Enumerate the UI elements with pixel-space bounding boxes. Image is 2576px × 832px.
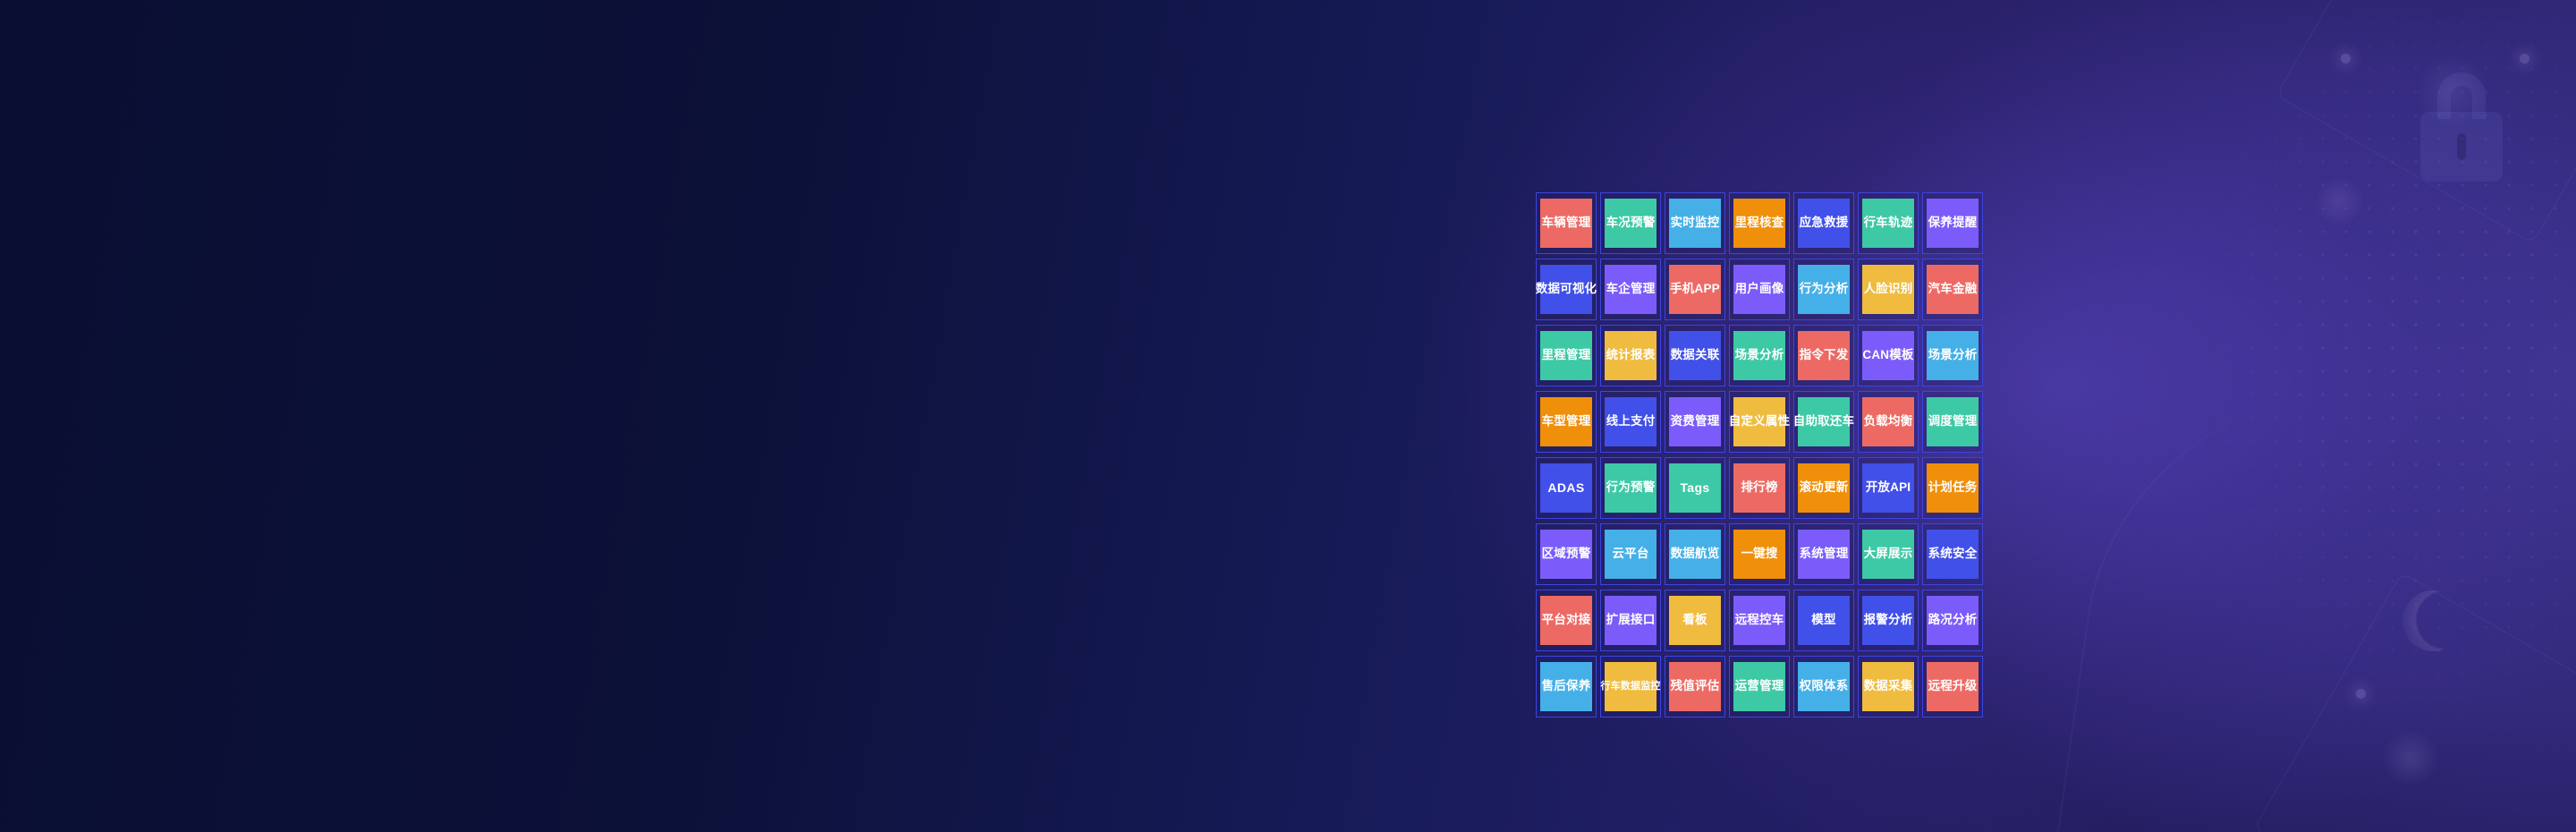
tag-cell[interactable]: 车况预警 <box>1600 192 1661 254</box>
tag-label[interactable]: 报警分析 <box>1862 596 1914 645</box>
tag-cell[interactable]: 平台对接 <box>1536 590 1597 651</box>
tag-label[interactable]: Tags <box>1669 463 1721 513</box>
tag-label[interactable]: 看板 <box>1669 596 1721 645</box>
tag-label[interactable]: 保养提醒 <box>1927 199 1979 248</box>
tag-cell[interactable]: 数据关联 <box>1665 325 1725 386</box>
tag-cell[interactable]: ADAS <box>1536 457 1597 519</box>
tag-cell[interactable]: Tags <box>1665 457 1725 519</box>
tag-cell[interactable]: 行为预警 <box>1600 457 1661 519</box>
tag-cell[interactable]: 应急救援 <box>1793 192 1854 254</box>
tag-label[interactable]: 里程管理 <box>1540 331 1592 380</box>
tag-label[interactable]: 自助取还车 <box>1798 397 1850 446</box>
tag-cell[interactable]: 远程控车 <box>1729 590 1790 651</box>
tag-label[interactable]: 云平台 <box>1605 530 1657 579</box>
tag-label[interactable]: 远程控车 <box>1733 596 1785 645</box>
tag-label[interactable]: 人脸识别 <box>1862 265 1914 314</box>
tag-label[interactable]: 车况预警 <box>1605 199 1657 248</box>
tag-label[interactable]: ADAS <box>1540 463 1592 513</box>
tag-label[interactable]: 行为分析 <box>1798 265 1850 314</box>
capability-tag-grid: 车辆管理车况预警实时监控里程核查应急救援行车轨迹保养提醒数据可视化车企管理手机A… <box>1536 192 1983 717</box>
tag-label[interactable]: 自定义属性 <box>1733 397 1785 446</box>
tag-label[interactable]: 手机APP <box>1669 265 1721 314</box>
tag-cell[interactable]: 模型 <box>1793 590 1854 651</box>
glow-orb-icon <box>2313 175 2365 227</box>
tag-label[interactable]: 车辆管理 <box>1540 199 1592 248</box>
tag-cell[interactable]: 行为分析 <box>1793 259 1854 320</box>
tag-label[interactable]: 数据关联 <box>1669 331 1721 380</box>
tag-cell[interactable]: 大屏展示 <box>1858 523 1919 585</box>
tag-label[interactable]: 残值评估 <box>1669 662 1721 711</box>
tag-cell[interactable]: 车企管理 <box>1600 259 1661 320</box>
tag-label[interactable]: 线上支付 <box>1605 397 1657 446</box>
tag-cell[interactable]: 看板 <box>1665 590 1725 651</box>
tag-cell[interactable]: 权限体系 <box>1793 656 1854 717</box>
tag-label[interactable]: 指令下发 <box>1798 331 1850 380</box>
tag-label[interactable]: 数据采集 <box>1862 662 1914 711</box>
arc-line-icon <box>2048 344 2576 832</box>
tag-cell[interactable]: 数据采集 <box>1858 656 1919 717</box>
tag-cell[interactable]: 一键搜 <box>1729 523 1790 585</box>
tag-cell[interactable]: 计划任务 <box>1922 457 1983 519</box>
tag-label[interactable]: 行车数据监控 <box>1605 662 1657 711</box>
tag-cell[interactable]: 实时监控 <box>1665 192 1725 254</box>
tag-cell[interactable]: 线上支付 <box>1600 391 1661 453</box>
tag-label[interactable]: 模型 <box>1798 596 1850 645</box>
tag-label[interactable]: CAN模板 <box>1862 331 1914 380</box>
tag-label[interactable]: 实时监控 <box>1669 199 1721 248</box>
tag-label[interactable]: 计划任务 <box>1927 463 1979 513</box>
tag-cell[interactable]: 路况分析 <box>1922 590 1983 651</box>
tag-cell[interactable]: 场景分析 <box>1729 325 1790 386</box>
tag-cell[interactable]: 系统管理 <box>1793 523 1854 585</box>
tag-cell[interactable]: 汽车金融 <box>1922 259 1983 320</box>
tag-label[interactable]: 系统管理 <box>1798 530 1850 579</box>
tag-cell[interactable]: 资费管理 <box>1665 391 1725 453</box>
tag-label[interactable]: 平台对接 <box>1540 596 1592 645</box>
tag-cell[interactable]: 远程升级 <box>1922 656 1983 717</box>
tag-cell[interactable]: 指令下发 <box>1793 325 1854 386</box>
tag-cell[interactable]: 里程管理 <box>1536 325 1597 386</box>
tag-label[interactable]: 数据航览 <box>1669 530 1721 579</box>
tag-label[interactable]: 系统安全 <box>1927 530 1979 579</box>
tag-label[interactable]: 售后保养 <box>1540 662 1592 711</box>
tag-cell[interactable]: 数据可视化 <box>1536 259 1597 320</box>
tag-cell[interactable]: 自定义属性 <box>1729 391 1790 453</box>
tag-cell[interactable]: 车辆管理 <box>1536 192 1597 254</box>
tag-label[interactable]: 负载均衡 <box>1862 397 1914 446</box>
tag-cell[interactable]: 云平台 <box>1600 523 1661 585</box>
tag-cell[interactable]: 行车轨迹 <box>1858 192 1919 254</box>
tag-cell[interactable]: 滚动更新 <box>1793 457 1854 519</box>
tag-label[interactable]: 里程核查 <box>1733 199 1785 248</box>
tag-label[interactable]: 滚动更新 <box>1798 463 1850 513</box>
tag-label[interactable]: 开放API <box>1862 463 1914 513</box>
tag-label[interactable]: 大屏展示 <box>1862 530 1914 579</box>
tag-cell[interactable]: 统计报表 <box>1600 325 1661 386</box>
tag-label[interactable]: 资费管理 <box>1669 397 1721 446</box>
tag-cell[interactable]: 系统安全 <box>1922 523 1983 585</box>
tag-label[interactable]: 统计报表 <box>1605 331 1657 380</box>
tag-label[interactable]: 场景分析 <box>1733 331 1785 380</box>
tag-cell[interactable]: 保养提醒 <box>1922 192 1983 254</box>
tag-label[interactable]: 运营管理 <box>1733 662 1785 711</box>
tag-cell[interactable]: 场景分析 <box>1922 325 1983 386</box>
glow-orb-icon <box>2415 54 2490 129</box>
tag-cell[interactable]: 自助取还车 <box>1793 391 1854 453</box>
tag-cell[interactable]: 车型管理 <box>1536 391 1597 453</box>
tag-label[interactable]: 用户画像 <box>1733 265 1785 314</box>
tag-cell[interactable]: 售后保养 <box>1536 656 1597 717</box>
tag-label[interactable]: 行车轨迹 <box>1862 199 1914 248</box>
tag-label[interactable]: 数据可视化 <box>1540 265 1592 314</box>
tag-cell[interactable]: 手机APP <box>1665 259 1725 320</box>
tag-label[interactable]: 排行榜 <box>1733 463 1785 513</box>
tag-label[interactable]: 车企管理 <box>1605 265 1657 314</box>
tag-cell[interactable]: 数据航览 <box>1665 523 1725 585</box>
tag-label[interactable]: 车型管理 <box>1540 397 1592 446</box>
tag-cell[interactable]: 开放API <box>1858 457 1919 519</box>
tag-label[interactable]: 路况分析 <box>1927 596 1979 645</box>
tag-label[interactable]: 扩展接口 <box>1605 596 1657 645</box>
tag-cell[interactable]: 残值评估 <box>1665 656 1725 717</box>
tag-label[interactable]: 调度管理 <box>1927 397 1979 446</box>
tag-label[interactable]: 远程升级 <box>1927 662 1979 711</box>
screen-background: 车辆管理车况预警实时监控里程核查应急救援行车轨迹保养提醒数据可视化车企管理手机A… <box>0 0 2576 832</box>
tag-cell[interactable]: 报警分析 <box>1858 590 1919 651</box>
tag-cell[interactable]: 运营管理 <box>1729 656 1790 717</box>
tag-cell[interactable]: 排行榜 <box>1729 457 1790 519</box>
tag-cell[interactable]: 行车数据监控 <box>1600 656 1661 717</box>
tag-cell[interactable]: 里程核查 <box>1729 192 1790 254</box>
node-dot-icon <box>2341 54 2351 64</box>
tag-cell[interactable]: 用户画像 <box>1729 259 1790 320</box>
tag-cell[interactable]: 调度管理 <box>1922 391 1983 453</box>
tag-cell[interactable]: 区域预警 <box>1536 523 1597 585</box>
tag-cell[interactable]: 负载均衡 <box>1858 391 1919 453</box>
tag-cell[interactable]: 扩展接口 <box>1600 590 1661 651</box>
node-dot-icon <box>2520 54 2529 64</box>
tag-cell[interactable]: CAN模板 <box>1858 325 1919 386</box>
tag-label[interactable]: 行为预警 <box>1605 463 1657 513</box>
tag-label[interactable]: 一键搜 <box>1733 530 1785 579</box>
tag-label[interactable]: 区域预警 <box>1540 530 1592 579</box>
tag-label[interactable]: 应急救援 <box>1798 199 1850 248</box>
tag-label[interactable]: 权限体系 <box>1798 662 1850 711</box>
tag-label[interactable]: 场景分析 <box>1927 331 1979 380</box>
tag-label[interactable]: 汽车金融 <box>1927 265 1979 314</box>
tag-cell[interactable]: 人脸识别 <box>1858 259 1919 320</box>
